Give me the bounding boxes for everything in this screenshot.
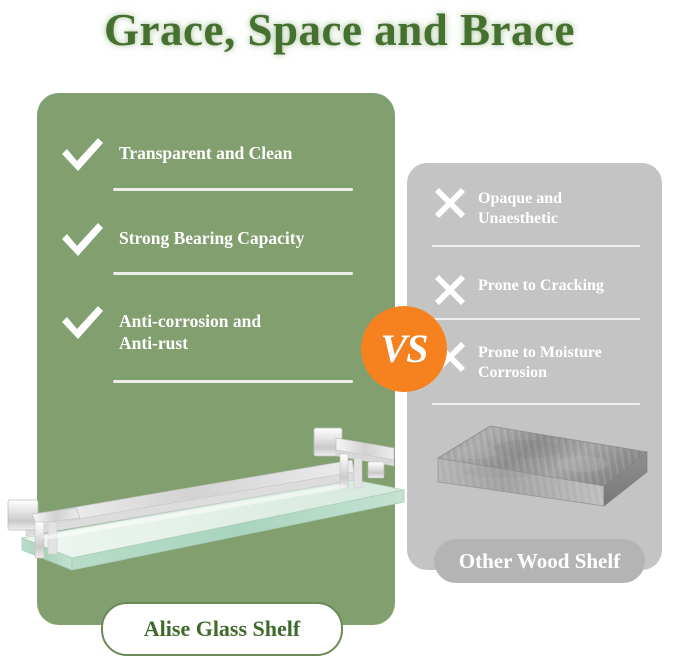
- cons-divider: [432, 403, 640, 405]
- cons-item-label: Prone to Moisture Corrosion: [478, 341, 602, 383]
- pros-item: Anti-corrosion and Anti-rust: [60, 305, 261, 354]
- cross-icon: [434, 187, 466, 219]
- cons-item-label: Opaque and Unaesthetic: [478, 187, 562, 229]
- cons-divider: [432, 318, 640, 320]
- pros-product-label-text: Alise Glass Shelf: [144, 616, 300, 642]
- pros-product-label: Alise Glass Shelf: [101, 602, 343, 656]
- checkmark-icon: [60, 137, 104, 173]
- infographic-canvas: Grace, Space and Brace Transparent and C…: [0, 0, 679, 660]
- pros-item-label: Anti-corrosion and Anti-rust: [119, 305, 261, 354]
- cons-product-label-text: Other Wood Shelf: [459, 549, 620, 574]
- cons-item: Prone to Cracking: [434, 274, 604, 306]
- versus-badge: VS: [361, 306, 447, 392]
- cons-item: Prone to Moisture Corrosion: [434, 341, 602, 383]
- pros-divider: [113, 380, 353, 383]
- page-title: Grace, Space and Brace: [0, 4, 679, 56]
- versus-label: VS: [381, 329, 428, 369]
- cons-item: Opaque and Unaesthetic: [434, 187, 562, 229]
- pros-item-label: Transparent and Clean: [119, 137, 292, 164]
- cons-divider: [432, 245, 640, 247]
- pros-item: Strong Bearing Capacity: [60, 222, 304, 258]
- pros-item: Transparent and Clean: [60, 137, 292, 173]
- cross-icon: [434, 274, 466, 306]
- checkmark-icon: [60, 305, 104, 341]
- checkmark-icon: [60, 222, 104, 258]
- cons-item-label: Prone to Cracking: [478, 274, 604, 296]
- pros-divider: [113, 188, 353, 191]
- wood-shelf-image: [432, 424, 664, 534]
- glass-shelf-image: [2, 418, 412, 600]
- pros-item-label: Strong Bearing Capacity: [119, 222, 304, 249]
- cons-product-label: Other Wood Shelf: [434, 539, 645, 583]
- pros-divider: [113, 272, 353, 275]
